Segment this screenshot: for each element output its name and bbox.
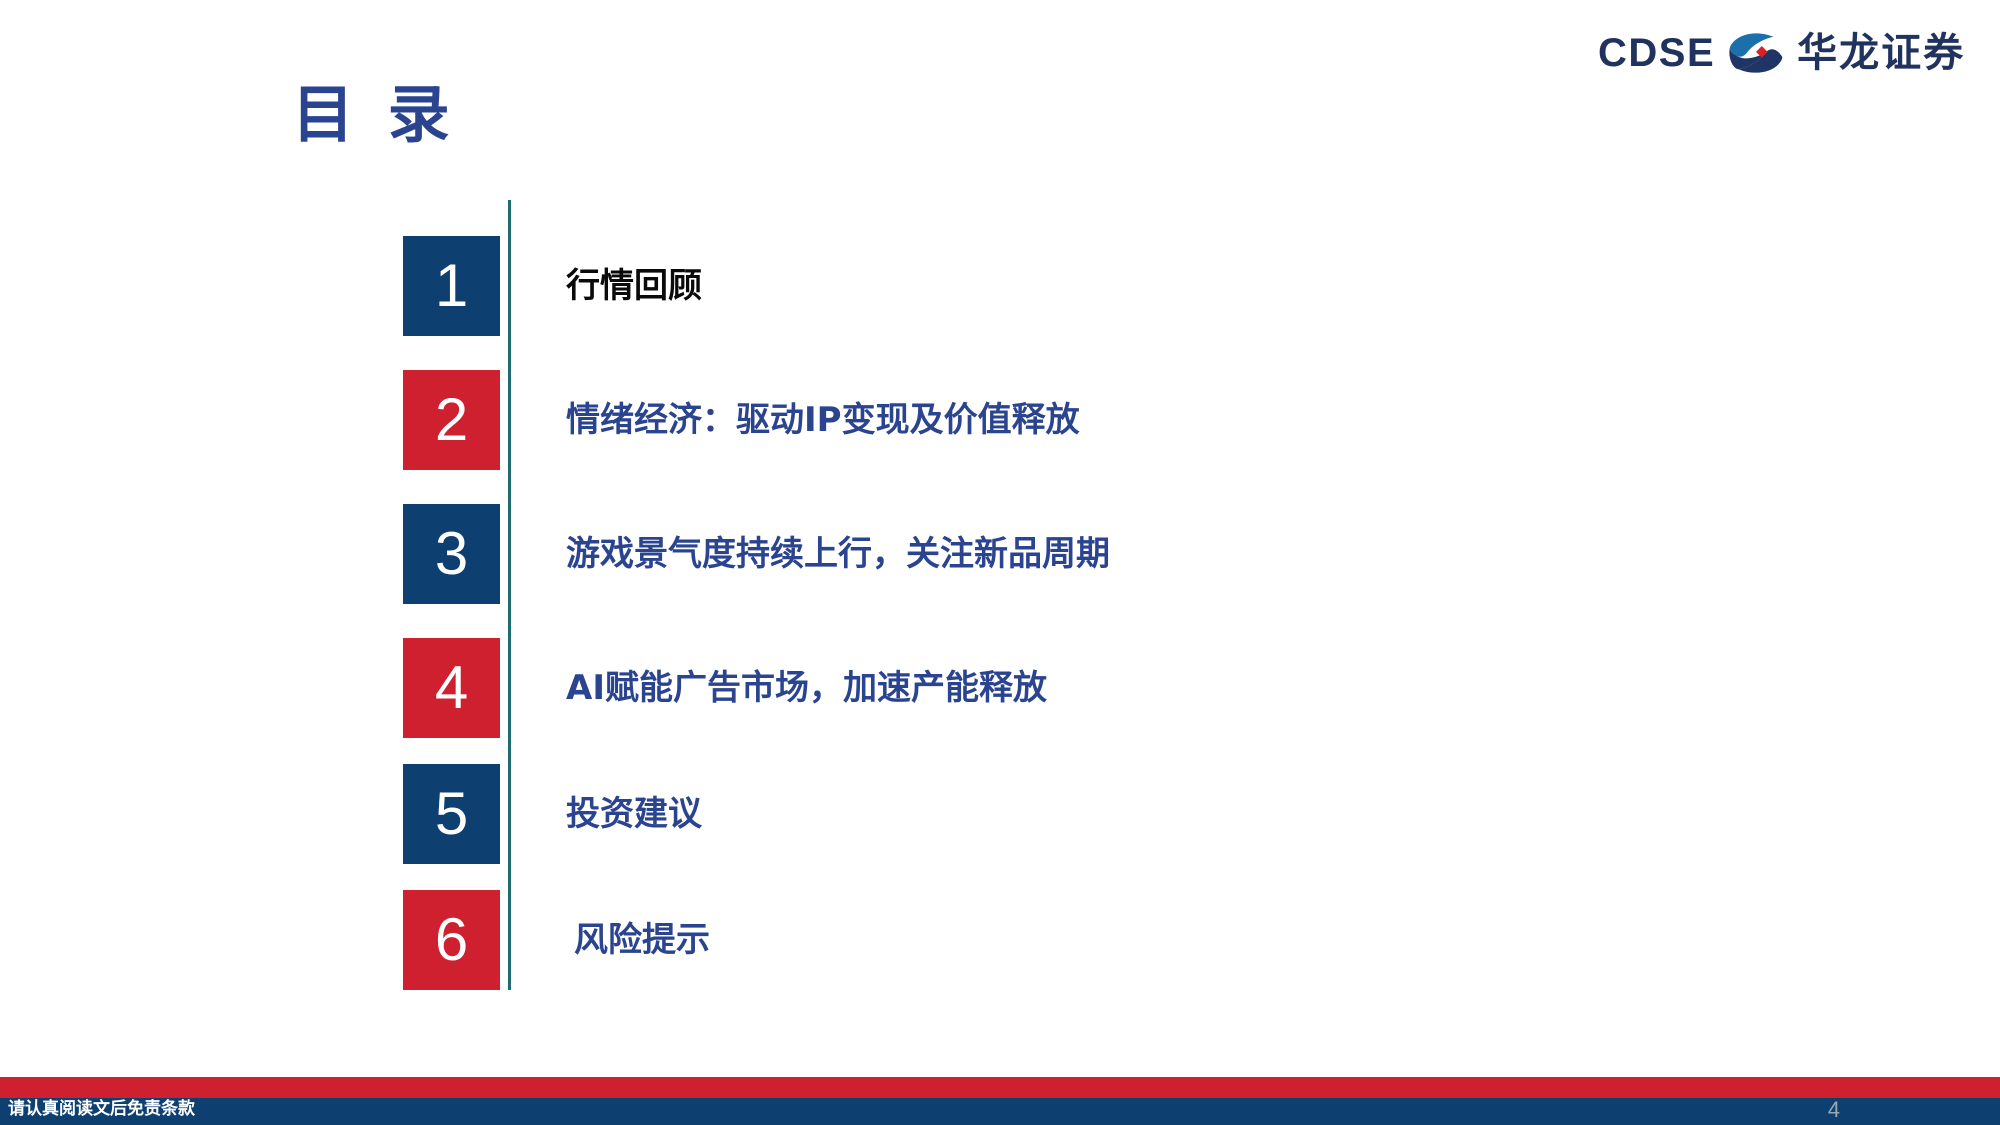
table-of-contents: 1 行情回顾 2 情绪经济：驱动IP变现及价值释放 3 游戏景气度持续上行，关注… xyxy=(0,0,2000,1125)
toc-number-badge: 6 xyxy=(403,890,500,990)
footer-red-bar xyxy=(0,1077,2000,1098)
toc-item-3[interactable]: 3 游戏景气度持续上行，关注新品周期 xyxy=(403,504,1110,604)
toc-item-1[interactable]: 1 行情回顾 xyxy=(403,236,702,336)
footer-disclaimer: 请认真阅读文后免责条款 xyxy=(8,1101,195,1118)
toc-number-badge: 3 xyxy=(403,504,500,604)
footer-navy-bar xyxy=(0,1098,2000,1125)
toc-number-badge: 4 xyxy=(403,638,500,738)
toc-number-badge: 2 xyxy=(403,370,500,470)
page-number: 4 xyxy=(1828,1099,1840,1121)
toc-number-badge: 5 xyxy=(403,764,500,864)
toc-item-label: 行情回顾 xyxy=(566,269,702,303)
toc-item-6[interactable]: 6 风险提示 xyxy=(403,890,710,990)
toc-item-label: 情绪经济：驱动IP变现及价值释放 xyxy=(566,403,1080,437)
slide-footer: 请认真阅读文后免责条款 4 xyxy=(0,1077,2000,1125)
toc-number-badge: 1 xyxy=(403,236,500,336)
toc-item-4[interactable]: 4 AI赋能广告市场，加速产能释放 xyxy=(403,638,1047,738)
toc-item-label: 风险提示 xyxy=(574,923,710,957)
toc-item-5[interactable]: 5 投资建议 xyxy=(403,764,702,864)
toc-item-2[interactable]: 2 情绪经济：驱动IP变现及价值释放 xyxy=(403,370,1080,470)
toc-item-label: 投资建议 xyxy=(566,797,702,831)
toc-item-label: AI赋能广告市场，加速产能释放 xyxy=(566,671,1047,705)
toc-item-label: 游戏景气度持续上行，关注新品周期 xyxy=(566,537,1110,571)
